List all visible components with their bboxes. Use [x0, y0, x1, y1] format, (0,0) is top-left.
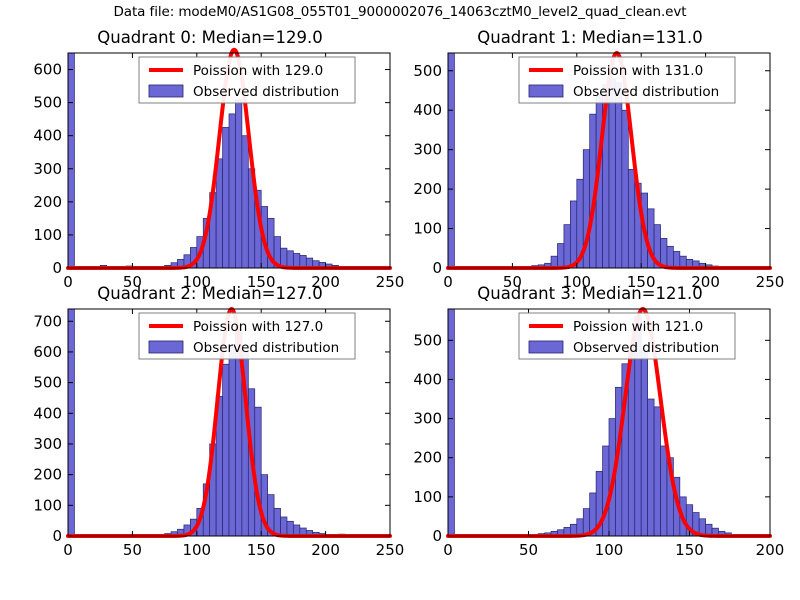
plot-quadrant-2[interactable]: 0501001502002500100200300400500600700Poi… [20, 284, 400, 564]
x-tick-label: 50 [519, 541, 538, 559]
histogram-bar [68, 309, 74, 536]
panel-quadrant-3: Quadrant 3: Median=121.0 050100150200010… [400, 284, 780, 564]
legend[interactable]: Poission with 131.0Observed distribution [519, 57, 735, 103]
y-tick-label: 300 [413, 410, 442, 428]
panel-quadrant-1: Quadrant 1: Median=131.0 050100150200250… [400, 28, 780, 296]
y-tick-label: 0 [432, 527, 442, 545]
x-tick-label: 100 [595, 541, 624, 559]
histogram-bar [622, 110, 628, 268]
histogram-bar [628, 169, 634, 268]
plot-quadrant-0[interactable]: 0501001502002500100200300400500600Poissi… [20, 28, 400, 296]
histogram-bar [661, 446, 667, 536]
histogram-bar [654, 407, 660, 536]
y-tick-label: 0 [52, 527, 62, 545]
figure-canvas: Data file: modeM0/AS1G08_055T01_90000020… [0, 0, 800, 600]
y-tick-label: 500 [33, 374, 62, 392]
legend-entry-label: Observed distribution [193, 84, 339, 100]
histogram-bar [287, 521, 293, 536]
histogram-bar [448, 53, 454, 268]
x-tick-label: 200 [311, 541, 340, 559]
histogram-bar [673, 251, 679, 268]
histogram-bar [557, 244, 563, 268]
y-tick-label: 300 [33, 160, 62, 178]
histogram-bar [223, 364, 229, 536]
panel-quadrant-2: Quadrant 2: Median=127.0 050100150200250… [20, 284, 400, 564]
y-tick-label: 400 [33, 127, 62, 145]
histogram-bar [287, 251, 293, 268]
histogram-bar [68, 53, 74, 268]
legend[interactable]: Poission with 121.0Observed distribution [519, 313, 735, 359]
y-tick-label: 400 [33, 404, 62, 422]
y-tick-label: 200 [413, 449, 442, 467]
histogram-bar [615, 83, 621, 268]
y-tick-label: 100 [33, 226, 62, 244]
panel-quadrant-0: Quadrant 0: Median=129.0 050100150200250… [20, 28, 400, 296]
histogram-bar [229, 346, 235, 536]
y-tick-label: 100 [413, 220, 442, 238]
y-tick-label: 400 [413, 101, 442, 119]
histogram-bar [223, 127, 229, 268]
y-tick-label: 0 [52, 259, 62, 277]
histogram-bar [281, 517, 287, 536]
legend[interactable]: Poission with 129.0Observed distribution [139, 57, 355, 103]
y-tick-label: 100 [413, 488, 442, 506]
histogram-bar [603, 446, 609, 536]
legend-entry-label: Observed distribution [573, 340, 719, 356]
histogram-bar [667, 246, 673, 268]
x-tick-label: 0 [63, 541, 73, 559]
plot-quadrant-3[interactable]: 0501001502000100200300400500Poission wit… [400, 284, 780, 564]
legend-entry-label: Poission with 121.0 [573, 319, 703, 335]
legend-bar-swatch [529, 85, 563, 97]
legend-bar-swatch [529, 341, 563, 353]
y-tick-label: 600 [33, 61, 62, 79]
histogram-bar [570, 201, 576, 268]
y-tick-label: 600 [33, 343, 62, 361]
y-tick-label: 200 [33, 466, 62, 484]
histogram-bar [229, 114, 235, 268]
figure-title: Data file: modeM0/AS1G08_055T01_90000020… [0, 4, 800, 20]
legend[interactable]: Poission with 127.0Observed distribution [139, 313, 355, 359]
histogram-bar [641, 352, 647, 536]
x-tick-label: 100 [182, 541, 211, 559]
y-tick-label: 200 [413, 180, 442, 198]
y-tick-label: 300 [413, 141, 442, 159]
legend-entry-label: Poission with 131.0 [573, 63, 703, 79]
histogram-bar [242, 136, 248, 268]
histogram-bar [293, 253, 299, 268]
histogram-bar [255, 407, 261, 536]
y-tick-label: 200 [33, 193, 62, 211]
histogram-bar [609, 79, 615, 268]
y-tick-label: 500 [413, 331, 442, 349]
y-tick-label: 500 [413, 62, 442, 80]
histogram-bar [648, 399, 654, 536]
legend-bar-swatch [149, 85, 183, 97]
plot-quadrant-1[interactable]: 0501001502002500100200300400500Poission … [400, 28, 780, 296]
histogram-bar [448, 309, 454, 536]
legend-entry-label: Observed distribution [573, 84, 719, 100]
y-tick-label: 300 [33, 435, 62, 453]
y-tick-label: 0 [432, 259, 442, 277]
y-tick-label: 100 [33, 496, 62, 514]
histogram-bar [235, 99, 241, 268]
legend-entry-label: Poission with 127.0 [193, 319, 323, 335]
histogram-bar [274, 508, 280, 536]
x-tick-label: 0 [443, 541, 453, 559]
y-tick-label: 500 [33, 94, 62, 112]
y-tick-label: 400 [413, 370, 442, 388]
histogram-bar [564, 225, 570, 268]
legend-entry-label: Observed distribution [193, 340, 339, 356]
x-tick-label: 150 [247, 541, 276, 559]
x-tick-label: 200 [756, 541, 785, 559]
x-tick-label: 50 [123, 541, 142, 559]
legend-bar-swatch [149, 341, 183, 353]
legend-entry-label: Poission with 129.0 [193, 63, 323, 79]
histogram-bar [216, 159, 222, 268]
y-tick-label: 700 [33, 312, 62, 330]
x-tick-label: 150 [675, 541, 704, 559]
